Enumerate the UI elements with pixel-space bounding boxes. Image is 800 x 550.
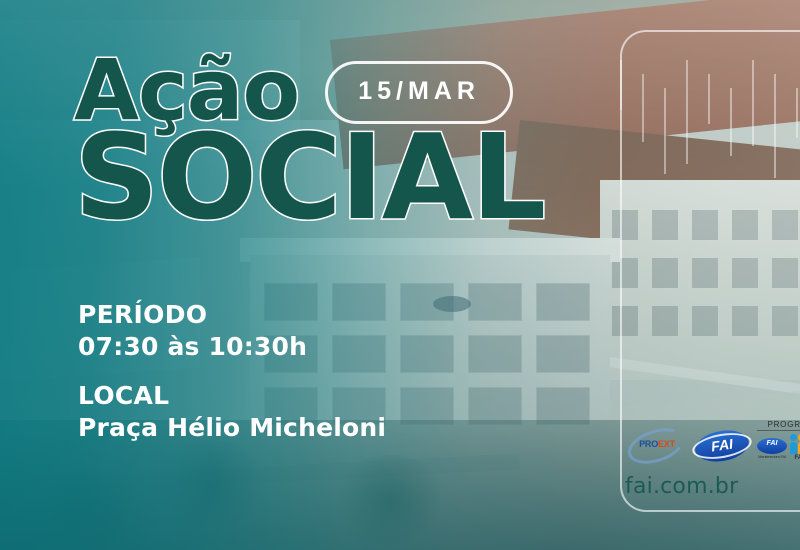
- period-value: 07:30 às 10:30h: [78, 332, 386, 361]
- headline-social: SOCIAL: [74, 123, 634, 232]
- person-icon-1: [790, 434, 797, 454]
- programa-body: FAI Mantenedora FAI FAI-SOCIAL: [757, 434, 800, 461]
- local-value: Praça Hélio Micheloni: [78, 413, 386, 442]
- programa-fai-text: FAI: [757, 440, 787, 447]
- people-icons: [790, 434, 800, 454]
- info-spacer: [78, 361, 386, 381]
- proext-logo: PROEXT: [625, 424, 687, 468]
- proext-wordmark: PROEXT: [629, 439, 685, 449]
- programa-title: PROGRAMA: [757, 420, 800, 431]
- headline-block: Ação 15/MAR SOCIAL: [74, 52, 634, 232]
- programa-people-group: FAI-SOCIAL: [790, 434, 800, 461]
- local-label: LOCAL: [78, 381, 386, 410]
- fai-logo: FAI: [693, 424, 751, 468]
- info-block: PERÍODO 07:30 às 10:30h LOCAL Praça Héli…: [78, 300, 386, 442]
- programa-fai-subtext: Mantenedora FAI: [757, 454, 787, 459]
- proext-ext-text: EXT: [658, 439, 675, 449]
- website-text: fai.com.br: [625, 474, 738, 499]
- fai-social-label: FAI-SOCIAL: [790, 455, 800, 461]
- programa-fai-badge: FAI Mantenedora FAI: [757, 437, 787, 459]
- period-label: PERÍODO: [78, 300, 386, 329]
- programa-fai-social-logo: PROGRAMA FAI Mantenedora FAI FAI-SOCIA: [757, 420, 800, 468]
- logo-row: PROEXT FAI PROGRAMA FAI Mantenedora FAI: [625, 420, 800, 468]
- poster-canvas: Ação 15/MAR SOCIAL PERÍODO 07:30 às 10:3…: [0, 0, 800, 550]
- proext-pro-text: PRO: [639, 439, 658, 449]
